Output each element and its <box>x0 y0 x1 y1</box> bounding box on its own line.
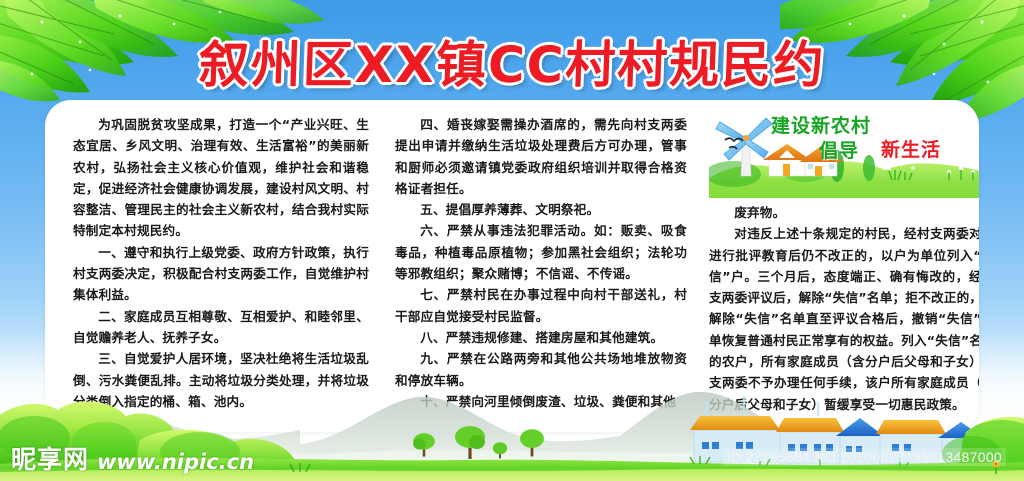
text-column-1: 为巩固脱贫攻坚成果，打造一个“产业兴旺、生态宜居、乡风文明、治理有效、生活富裕”… <box>73 114 369 422</box>
text-column-2: 四、婚丧嫁娶需操办酒席的，需先向村支两委提出申请并缴纳生活垃圾处理费后方可办理，… <box>395 114 687 422</box>
paragraph: 一、遵守和执行上级党委、政府方针政策，执行村支两委决定，积极配合村支两委工作，自… <box>73 242 369 306</box>
paragraph: 九、严禁在公路两旁和其他公共场地堆放物资和停放车辆。 <box>395 348 687 391</box>
paragraph: 四、婚丧嫁娶需操办酒席的，需先向村支两委提出申请并缴纳生活垃圾处理费后方可办理，… <box>395 114 687 199</box>
paragraph: 二、家庭成员互相尊敬、互相爱护、和睦邻里、自觉赡养老人、抚养子女。 <box>73 306 369 349</box>
slogan-line-2: 倡导 <box>819 141 859 162</box>
poster-title: 叙州区XX镇CC村村规民约 <box>197 25 826 97</box>
poster-board: 叙州区XX镇CC村村规民约 为巩固脱贫攻坚成果，打造一个“产业兴旺、生态宜居、乡… <box>0 0 1024 481</box>
poster-title-wrap: 叙州区XX镇CC村村规民约 <box>0 30 1024 92</box>
content-panel: 为巩固脱贫攻坚成果，打造一个“产业兴旺、生态宜居、乡风文明、治理有效、生活富裕”… <box>45 100 979 432</box>
text-column-3: 建设新农村 倡导 新生活 废弃物。 对违反上述十条规定的村民，经村支两委对其进行… <box>709 114 979 422</box>
paragraph: 五、提倡厚养薄葬、文明祭祀。 <box>395 199 687 220</box>
slogan-line-1: 建设新农村 <box>771 116 871 137</box>
bottom-landscape <box>0 386 1024 481</box>
new-countryside-illustration: 建设新农村 倡导 新生活 <box>709 114 979 198</box>
paragraph: 七、严禁村民在办事过程中向村干部送礼，村干部应自觉接受村民监督。 <box>395 284 687 327</box>
paragraph: 六、严禁从事违法犯罪活动。如：贩卖、吸食毒品，种植毒品原植物；参加黑社会组织；法… <box>395 220 687 284</box>
paragraph: 为巩固脱贫攻坚成果，打造一个“产业兴旺、生态宜居、乡风文明、治理有效、生活富裕”… <box>73 114 369 242</box>
paragraph: 废弃物。 <box>709 202 979 223</box>
slogan-badge: 新生活 <box>881 140 941 161</box>
paragraph: 八、严禁违规修建、搭建房屋和其他建筑。 <box>395 327 687 348</box>
